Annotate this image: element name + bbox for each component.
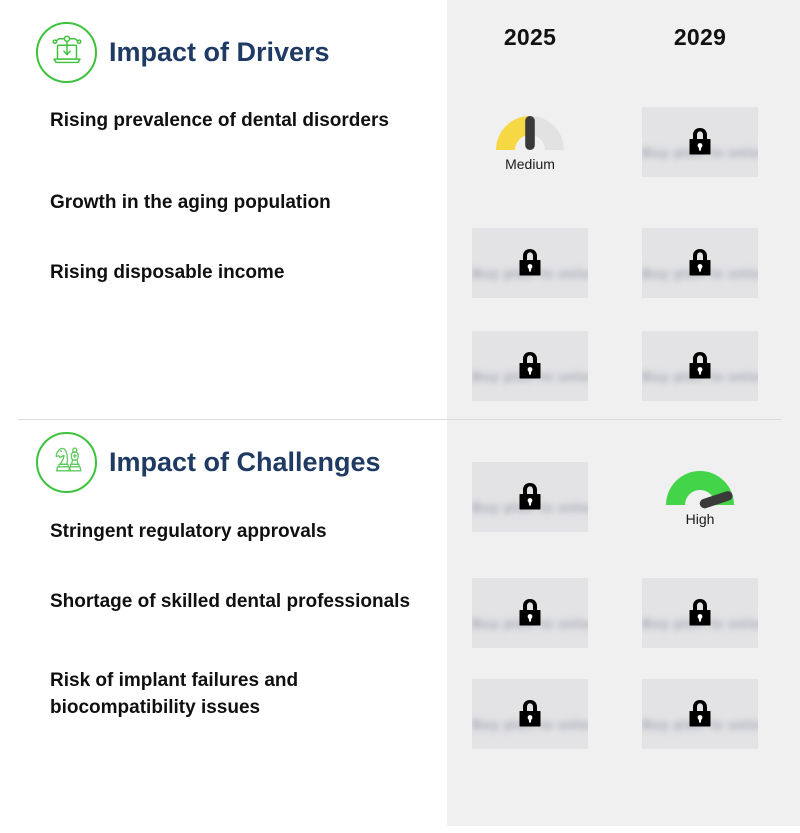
locked-tile[interactable]: Buy plan to unlock (642, 107, 758, 177)
challenges-badge (36, 432, 97, 493)
gauge-label-high: High (686, 511, 715, 527)
cell-challenges-1-2025[interactable]: Buy plan to unlock (470, 578, 590, 648)
lock-icon (515, 247, 545, 279)
driver-item-label-2: Rising disposable income (50, 260, 420, 287)
cell-drivers-0-2029[interactable]: Buy plan to unlock (640, 107, 760, 177)
gauge-high: High (642, 463, 758, 527)
gauge-arc-medium (492, 108, 568, 154)
cell-challenges-2-2025[interactable]: Buy plan to unlock (470, 679, 590, 749)
laptop-download-icon (48, 31, 86, 74)
cell-drivers-2-2029[interactable]: Buy plan to unlock (640, 331, 760, 401)
section-header-challenges: Impact of Challenges (36, 432, 381, 493)
section-title-challenges: Impact of Challenges (109, 447, 381, 478)
locked-tile[interactable]: Buy plan to unlock (472, 462, 588, 532)
column-header-2029: 2029 (640, 24, 760, 51)
locked-tile[interactable]: Buy plan to unlock (472, 578, 588, 648)
lock-icon (685, 126, 715, 158)
challenge-item-label-0: Stringent regulatory approvals (50, 519, 420, 546)
cell-challenges-0-2025[interactable]: Buy plan to unlock (470, 462, 590, 532)
drivers-badge (36, 22, 97, 83)
cell-drivers-2-2025[interactable]: Buy plan to unlock (470, 331, 590, 401)
cell-drivers-0-2025[interactable]: Medium (470, 108, 590, 172)
cell-drivers-1-2029[interactable]: Buy plan to unlock (640, 228, 760, 298)
gauge-arc-high (662, 463, 738, 509)
cell-challenges-0-2029[interactable]: High (640, 463, 760, 527)
driver-item-label-0: Rising prevalence of dental disorders (50, 108, 420, 135)
lock-icon (685, 698, 715, 730)
cell-challenges-1-2029[interactable]: Buy plan to unlock (640, 578, 760, 648)
section-title-drivers: Impact of Drivers (109, 37, 330, 68)
lock-icon (515, 350, 545, 382)
section-divider (18, 419, 782, 420)
driver-item-label-1: Growth in the aging population (50, 190, 420, 217)
cell-challenges-2-2029[interactable]: Buy plan to unlock (640, 679, 760, 749)
locked-tile[interactable]: Buy plan to unlock (642, 331, 758, 401)
lock-icon (515, 698, 545, 730)
column-header-2025: 2025 (470, 24, 590, 51)
cell-drivers-1-2025[interactable]: Buy plan to unlock (470, 228, 590, 298)
lock-icon (685, 597, 715, 629)
lock-icon (685, 350, 715, 382)
locked-tile[interactable]: Buy plan to unlock (642, 679, 758, 749)
gauge-label-medium: Medium (505, 156, 555, 172)
locked-tile[interactable]: Buy plan to unlock (472, 679, 588, 749)
section-header-drivers: Impact of Drivers (36, 22, 330, 83)
chess-pieces-icon (48, 441, 86, 484)
challenge-item-label-1: Shortage of skilled dental professionals (50, 589, 420, 616)
lock-icon (685, 247, 715, 279)
challenge-item-label-2: Risk of implant failures and biocompatib… (50, 668, 420, 722)
locked-tile[interactable]: Buy plan to unlock (472, 228, 588, 298)
lock-icon (515, 597, 545, 629)
locked-tile[interactable]: Buy plan to unlock (642, 228, 758, 298)
gauge-medium: Medium (472, 108, 588, 172)
lock-icon (515, 481, 545, 513)
locked-tile[interactable]: Buy plan to unlock (472, 331, 588, 401)
locked-tile[interactable]: Buy plan to unlock (642, 578, 758, 648)
